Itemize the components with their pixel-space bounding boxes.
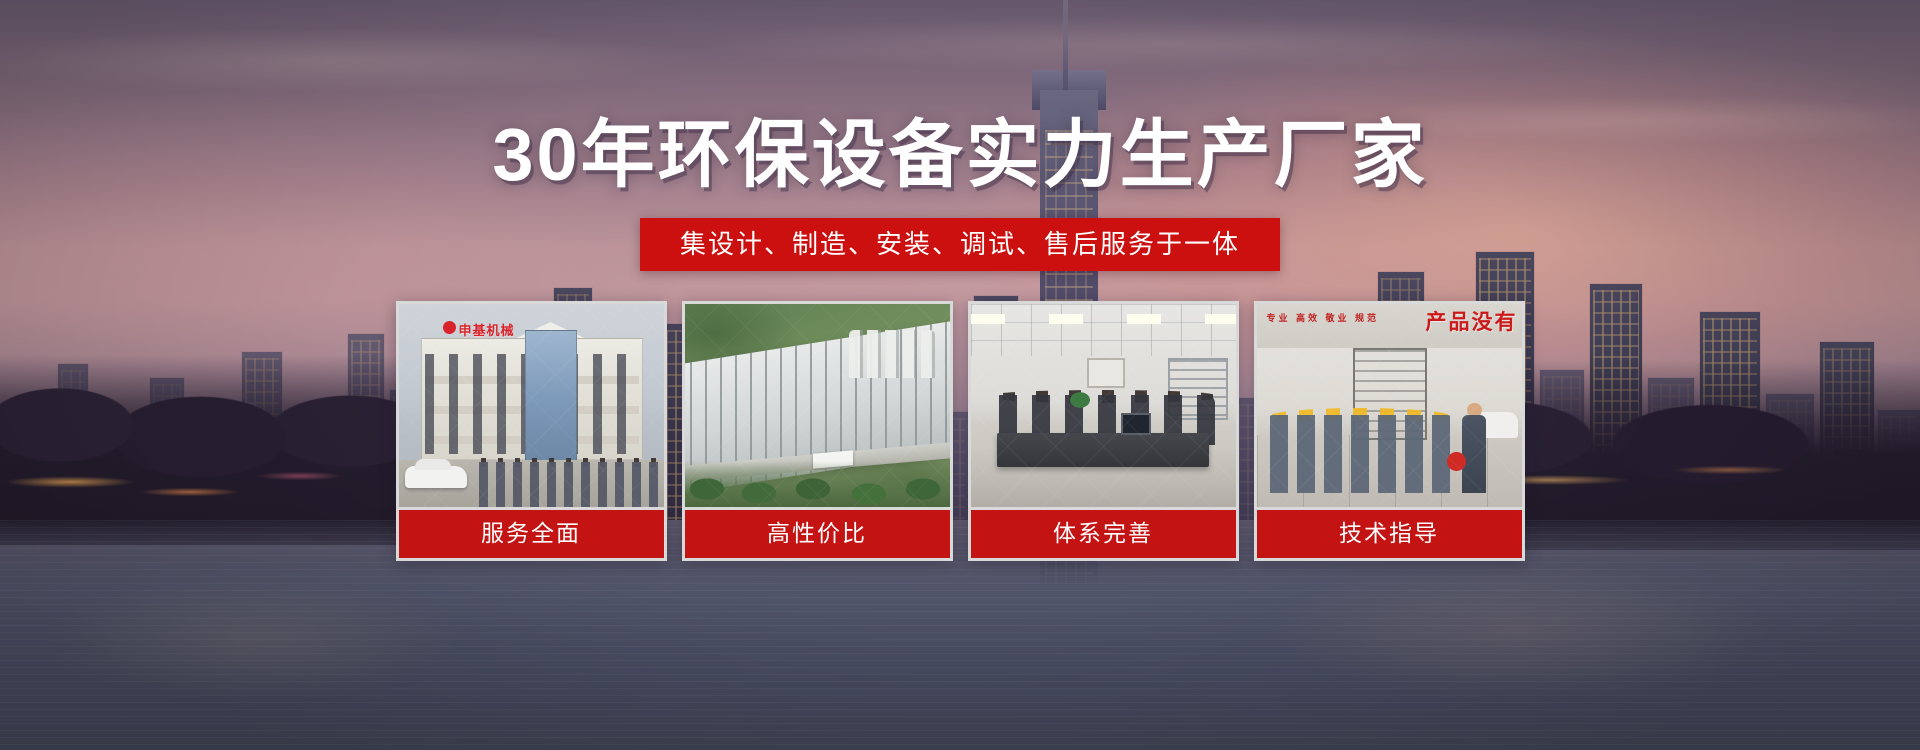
card-caption: 高性价比 (685, 510, 950, 558)
feature-card[interactable]: 高性价比 (682, 301, 953, 561)
card-photo-office-building: 申基机械 (399, 304, 664, 507)
subtitle-banner: 集设计、制造、安装、调试、售后服务于一体 (640, 218, 1280, 271)
feature-card[interactable]: 专业 高效 敬业 规范 产品没有 技术指导 (1254, 301, 1525, 561)
card-photo-plant-aerial (685, 304, 950, 507)
page-title: 30年环保设备实力生产厂家 (492, 118, 1427, 192)
feature-card-list: 申基机械 服务全面 (396, 301, 1525, 561)
hero-banner: 30年环保设备实力生产厂家 集设计、制造、安装、调试、售后服务于一体 申基机械 (0, 0, 1920, 750)
building-sign-text: 申基机械 (459, 320, 515, 339)
card-photo-office-interior (971, 304, 1236, 507)
card-caption: 技术指导 (1257, 510, 1522, 558)
card-caption: 服务全面 (399, 510, 664, 558)
card-caption: 体系完善 (971, 510, 1236, 558)
workshop-banner-text: 产品没有 (1426, 306, 1518, 336)
card-photo-workshop-workers: 专业 高效 敬业 规范 产品没有 (1257, 304, 1522, 507)
company-logo-icon (443, 321, 456, 334)
feature-card[interactable]: 申基机械 服务全面 (396, 301, 667, 561)
workshop-slogan-small: 专业 高效 敬业 规范 (1267, 312, 1380, 324)
feature-card[interactable]: 体系完善 (968, 301, 1239, 561)
banner-content: 30年环保设备实力生产厂家 集设计、制造、安装、调试、售后服务于一体 申基机械 (0, 0, 1920, 750)
